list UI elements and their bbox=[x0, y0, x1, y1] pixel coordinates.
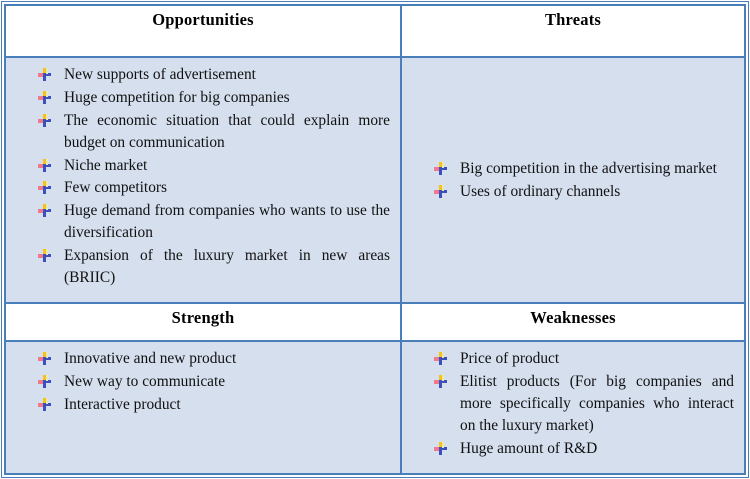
header-cell-threats: Threats bbox=[402, 6, 744, 58]
list-item: Uses of ordinary channels bbox=[428, 181, 734, 203]
cross-plus-bullet-icon bbox=[434, 375, 447, 388]
strength-list: Innovative and new product New way to co… bbox=[32, 348, 390, 416]
cross-plus-bullet-icon bbox=[434, 162, 447, 175]
page-title-strength: Strength bbox=[6, 308, 400, 328]
threats-list: Big competition in the advertising marke… bbox=[428, 158, 734, 203]
header-cell-weaknesses: Weaknesses bbox=[402, 304, 744, 342]
content-row-bottom: Innovative and new product New way to co… bbox=[6, 342, 744, 473]
cross-plus-bullet-icon bbox=[38, 159, 51, 172]
list-item: Price of product bbox=[428, 348, 734, 370]
list-item-label: Price of product bbox=[460, 350, 559, 367]
list-item: Interactive product bbox=[32, 394, 390, 416]
list-item: Big competition in the advertising marke… bbox=[428, 158, 734, 180]
list-item-label: New supports of advertisement bbox=[64, 66, 256, 83]
list-item: The economic situation that could explai… bbox=[32, 110, 390, 154]
list-item-label: New way to communicate bbox=[64, 373, 225, 390]
content-cell-threats: Big competition in the advertising marke… bbox=[402, 58, 744, 304]
list-item: New way to communicate bbox=[32, 371, 390, 393]
cross-plus-bullet-icon bbox=[38, 398, 51, 411]
header-cell-strength: Strength bbox=[6, 304, 402, 342]
content-cell-weaknesses: Price of product Elitist products (For b… bbox=[402, 342, 744, 473]
page-title-opportunities: Opportunities bbox=[6, 10, 400, 30]
list-item-label: Innovative and new product bbox=[64, 350, 236, 367]
page-title-weaknesses: Weaknesses bbox=[402, 308, 744, 328]
cross-plus-bullet-icon bbox=[434, 185, 447, 198]
list-item-label: Huge competition for big companies bbox=[64, 89, 290, 106]
list-item: Few competitors bbox=[32, 177, 390, 199]
list-item-label: Big competition in the advertising marke… bbox=[460, 160, 717, 177]
cross-plus-bullet-icon bbox=[38, 114, 51, 127]
cross-plus-bullet-icon bbox=[38, 181, 51, 194]
list-item-label: Niche market bbox=[64, 157, 147, 174]
weaknesses-list: Price of product Elitist products (For b… bbox=[428, 348, 734, 459]
cross-plus-bullet-icon bbox=[38, 68, 51, 81]
list-item-label: Uses of ordinary channels bbox=[460, 183, 620, 200]
swot-table: Opportunities Threats bbox=[6, 6, 744, 473]
list-item-label: Few competitors bbox=[64, 179, 167, 196]
list-item: Elitist products (For big companies and … bbox=[428, 371, 734, 437]
cross-plus-bullet-icon bbox=[38, 204, 51, 217]
list-item: Expansion of the luxury market in new ar… bbox=[32, 245, 390, 289]
content-cell-opportunities: New supports of advertisement Huge compe… bbox=[6, 58, 402, 304]
cross-plus-bullet-icon bbox=[38, 375, 51, 388]
list-item-label: Huge demand from companies who wants to … bbox=[64, 202, 390, 241]
content-cell-strength: Innovative and new product New way to co… bbox=[6, 342, 402, 473]
list-item-label: Interactive product bbox=[64, 396, 181, 413]
header-row-top: Opportunities Threats bbox=[6, 6, 744, 58]
cross-plus-bullet-icon bbox=[434, 442, 447, 455]
header-cell-opportunities: Opportunities bbox=[6, 6, 402, 58]
cross-plus-bullet-icon bbox=[434, 352, 447, 365]
list-item: Innovative and new product bbox=[32, 348, 390, 370]
list-item: Huge demand from companies who wants to … bbox=[32, 200, 390, 244]
cross-plus-bullet-icon bbox=[38, 91, 51, 104]
list-item: New supports of advertisement bbox=[32, 64, 390, 86]
list-item-label: Elitist products (For big companies and … bbox=[460, 373, 734, 434]
opportunities-list: New supports of advertisement Huge compe… bbox=[32, 64, 390, 289]
content-row-top: New supports of advertisement Huge compe… bbox=[6, 58, 744, 304]
list-item-label: Expansion of the luxury market in new ar… bbox=[64, 247, 390, 286]
list-item-label: Huge amount of R&D bbox=[460, 440, 597, 457]
page-title-threats: Threats bbox=[402, 10, 744, 30]
cross-plus-bullet-icon bbox=[38, 249, 51, 262]
list-item-label: The economic situation that could explai… bbox=[64, 112, 390, 151]
cross-plus-bullet-icon bbox=[38, 352, 51, 365]
header-row-bottom: Strength Weaknesses bbox=[6, 304, 744, 342]
list-item: Huge amount of R&D bbox=[428, 438, 734, 460]
list-item: Huge competition for big companies bbox=[32, 87, 390, 109]
list-item: Niche market bbox=[32, 155, 390, 177]
